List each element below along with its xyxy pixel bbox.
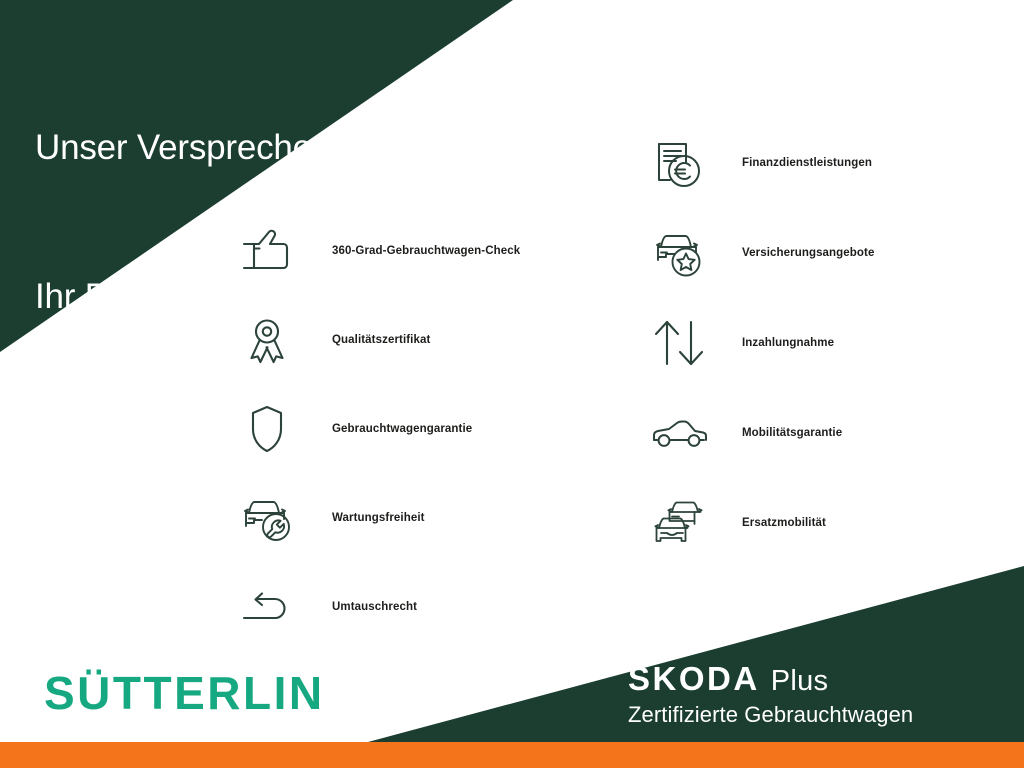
promo-slide: Unser Versprechen. Ihr Plus. 360-Grad-Ge… xyxy=(0,0,1024,768)
brand-block: ŠKODA Plus Zertifizierte Gebrauchtwagen xyxy=(628,662,913,728)
up-down-arrows-icon xyxy=(648,312,710,374)
brand-suffix: Plus xyxy=(771,667,829,696)
dealer-name: SÜTTERLIN xyxy=(44,668,325,719)
shield-icon xyxy=(236,398,298,460)
feature-label: Umtauschrecht xyxy=(332,601,417,613)
car-star-icon xyxy=(648,222,710,284)
feature-label: Finanzdienstleistungen xyxy=(742,157,872,169)
document-euro-icon xyxy=(648,132,710,194)
feature-label: Wartungsfreiheit xyxy=(332,512,425,524)
feature-label: Gebrauchtwagengarantie xyxy=(332,423,472,435)
car-wrench-icon xyxy=(236,487,298,549)
feature-item: Qualitätszertifikat xyxy=(236,295,520,384)
u-turn-arrow-icon xyxy=(236,576,298,638)
feature-column-right: Finanzdienstleistungen Versicherungs xyxy=(648,118,874,568)
dealer-logo-wordmark: SÜTTERLIN xyxy=(44,668,344,720)
feature-column-left: 360-Grad-Gebrauchtwagen-Check Qualitätsz… xyxy=(236,206,520,651)
feature-label: Ersatzmobilität xyxy=(742,517,826,529)
feature-item: Mobilitätsgarantie xyxy=(648,388,874,478)
brand-subtitle: Zertifizierte Gebrauchtwagen xyxy=(628,702,913,728)
feature-item: Umtauschrecht xyxy=(236,562,520,651)
orange-footer-bar xyxy=(0,742,1024,768)
two-cars-icon xyxy=(648,492,710,554)
feature-item: Versicherungsangebote xyxy=(648,208,874,298)
feature-item: Finanzdienstleistungen xyxy=(648,118,874,208)
feature-label: Versicherungsangebote xyxy=(742,247,874,259)
skoda-wordmark: ŠKODA xyxy=(628,662,760,695)
feature-item: Gebrauchtwagengarantie xyxy=(236,384,520,473)
feature-item: Inzahlungnahme xyxy=(648,298,874,388)
feature-label: Mobilitätsgarantie xyxy=(742,427,842,439)
feature-item: Ersatzmobilität xyxy=(648,478,874,568)
brand-title-row: ŠKODA Plus xyxy=(628,662,913,696)
feature-label: Qualitätszertifikat xyxy=(332,334,430,346)
dealer-logo[interactable]: SÜTTERLIN xyxy=(44,668,344,720)
headline-line-1: Unser Versprechen. xyxy=(35,123,341,173)
feature-item: 360-Grad-Gebrauchtwagen-Check xyxy=(236,206,520,295)
feature-label: 360-Grad-Gebrauchtwagen-Check xyxy=(332,245,520,257)
car-side-icon xyxy=(648,402,710,464)
award-rosette-icon xyxy=(236,309,298,371)
thumbs-up-icon xyxy=(236,220,298,282)
feature-label: Inzahlungnahme xyxy=(742,337,834,349)
feature-item: Wartungsfreiheit xyxy=(236,473,520,562)
